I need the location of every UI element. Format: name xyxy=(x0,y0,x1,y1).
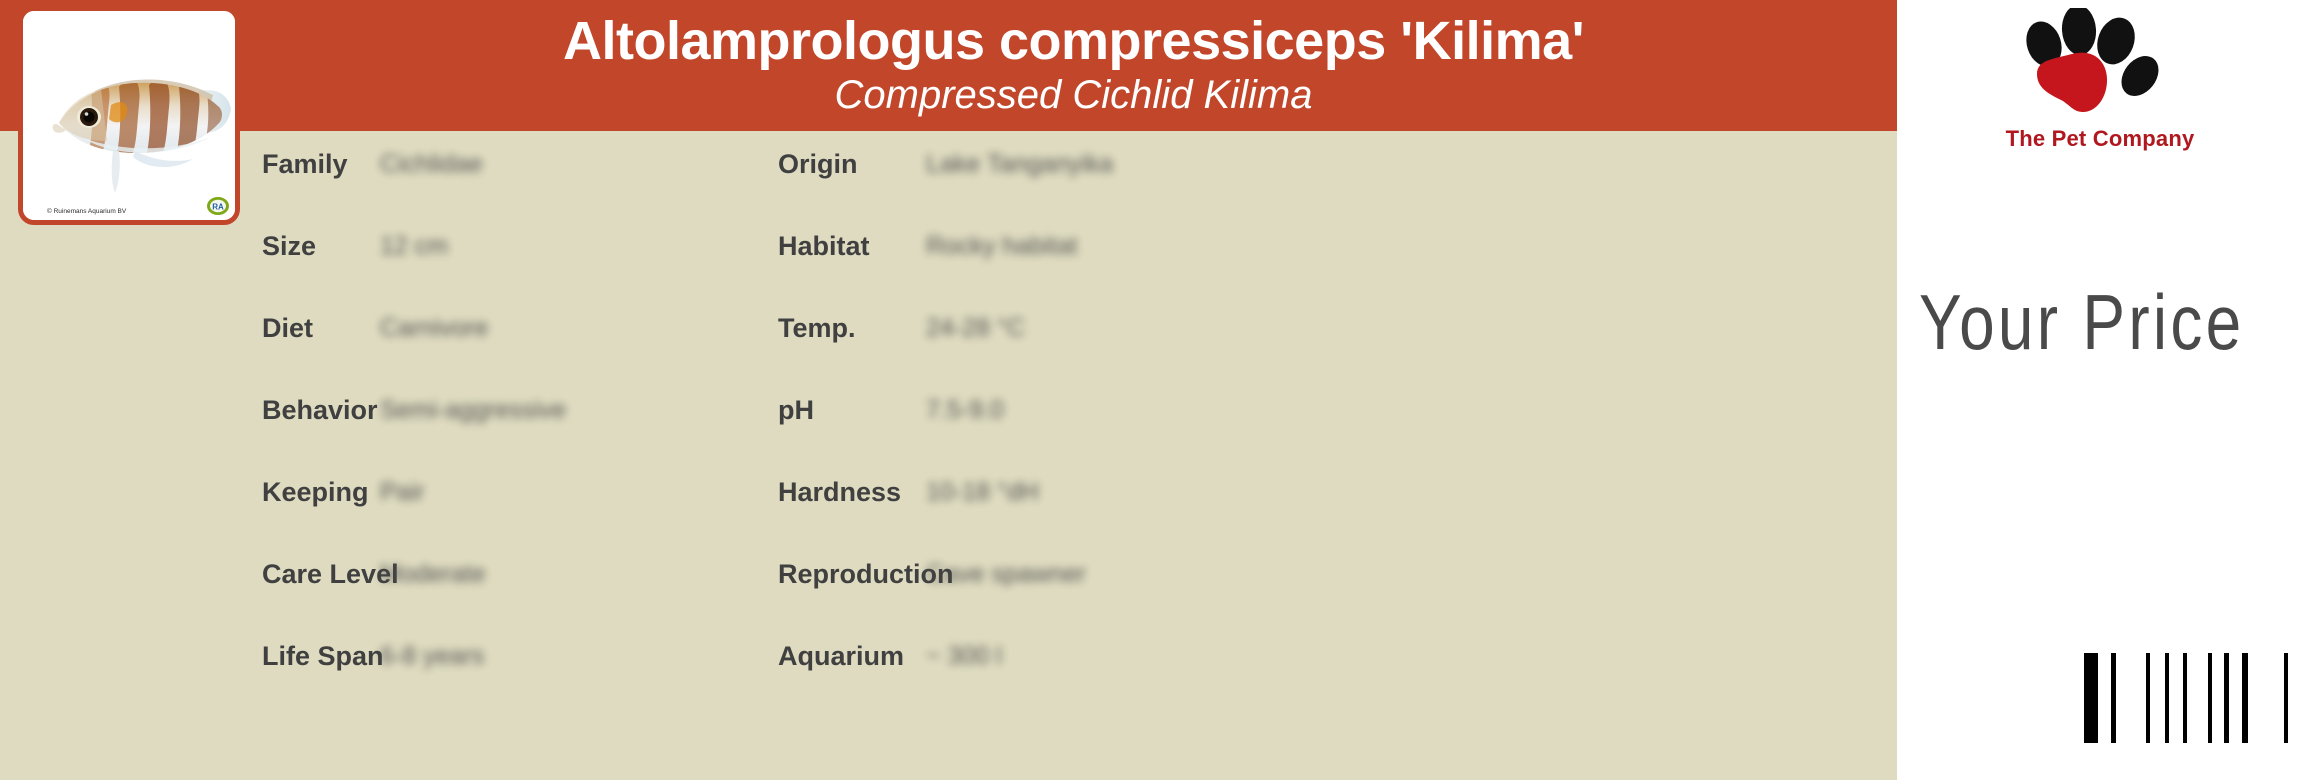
spec-label: Hardness xyxy=(778,459,926,506)
spec-row: Size 12 cm xyxy=(262,213,762,295)
brand-name: The Pet Company xyxy=(1897,126,2303,152)
barcode-bar xyxy=(2242,653,2248,743)
spec-label: Diet xyxy=(262,295,380,342)
spec-value: 12 cm xyxy=(380,213,448,259)
spec-row: Aquarium ~ 300 l xyxy=(778,623,1298,705)
barcode-bar xyxy=(2233,653,2238,743)
spec-label: Origin xyxy=(778,131,926,178)
spec-row: Family Cichlidae xyxy=(262,131,762,213)
spec-value: 7.5-9.0 xyxy=(926,377,1004,423)
spec-row: Origin Lake Tanganyika xyxy=(778,131,1298,213)
spec-table: Family Cichlidae Size 12 cm Diet Carnivo… xyxy=(0,131,1897,780)
spec-label: pH xyxy=(778,377,926,424)
spec-row: Reproduction Cave spawner xyxy=(778,541,1298,623)
barcode-bar xyxy=(2102,653,2107,743)
spec-value: Moderate xyxy=(380,541,486,587)
barcode-bar xyxy=(2154,653,2161,743)
spec-value: Cave spawner xyxy=(926,541,1086,587)
spec-label: Life Span xyxy=(262,623,380,670)
barcode-bar xyxy=(2252,653,2280,743)
title-banner-text: Altolamprologus compressiceps 'Kilima' C… xyxy=(250,0,1897,131)
barcode-bar xyxy=(2120,653,2142,743)
spec-value: 6-8 years xyxy=(380,623,484,669)
spec-row: Temp. 24-28 °C xyxy=(778,295,1298,377)
spec-label: Reproduction xyxy=(778,541,926,588)
spec-row: Diet Carnivore xyxy=(262,295,762,377)
spec-label: Keeping xyxy=(262,459,380,506)
common-name: Compressed Cichlid Kilima xyxy=(835,73,1313,118)
barcode-bar xyxy=(2216,653,2220,743)
spec-row: Behavior Semi-aggressive xyxy=(262,377,762,459)
spec-value: Lake Tanganyika xyxy=(926,131,1113,177)
title-banner: Altolamprologus compressiceps 'Kilima' C… xyxy=(0,0,1897,131)
spec-value: Rocky habitat xyxy=(926,213,1077,259)
barcode-bar xyxy=(2292,653,2302,743)
spec-value: Semi-aggressive xyxy=(380,377,566,423)
spec-label: Temp. xyxy=(778,295,926,342)
barcode-bar xyxy=(2191,653,2204,743)
spec-row: Care Level Moderate xyxy=(262,541,762,623)
price-heading: Your Price xyxy=(1919,283,2296,361)
paw-print-icon xyxy=(2015,8,2175,126)
barcode-bar xyxy=(2183,653,2187,743)
spec-value: 10-18 °dH xyxy=(926,459,1039,505)
spec-label: Habitat xyxy=(778,213,926,260)
barcode xyxy=(2084,653,2303,743)
spec-label: Size xyxy=(262,213,380,260)
spec-column-right: Origin Lake Tanganyika Habitat Rocky hab… xyxy=(778,131,1298,705)
barcode-bar xyxy=(2284,653,2288,743)
spec-label: Family xyxy=(262,131,380,178)
spec-row: Life Span 6-8 years xyxy=(262,623,762,705)
spec-label: Care Level xyxy=(262,541,380,588)
barcode-bar xyxy=(2084,653,2098,743)
barcode-bar xyxy=(2111,653,2116,743)
barcode-bar xyxy=(2146,653,2150,743)
spec-value: Pair xyxy=(380,459,424,505)
label-sheet: Altolamprologus compressiceps 'Kilima' C… xyxy=(0,0,2303,780)
spec-label: Behavior xyxy=(262,377,380,424)
spec-row: Hardness 10-18 °dH xyxy=(778,459,1298,541)
barcode-bar xyxy=(2208,653,2212,743)
spec-value: Carnivore xyxy=(380,295,488,341)
species-info-card: Altolamprologus compressiceps 'Kilima' C… xyxy=(0,0,1897,780)
spec-row: Keeping Pair xyxy=(262,459,762,541)
spec-column-left: Family Cichlidae Size 12 cm Diet Carnivo… xyxy=(262,131,762,705)
spec-row: pH 7.5-9.0 xyxy=(778,377,1298,459)
spec-value: Cichlidae xyxy=(380,131,483,177)
price-panel: The Pet Company Your Price xyxy=(1897,0,2303,780)
spec-value: 24-28 °C xyxy=(926,295,1025,341)
barcode-bar xyxy=(2165,653,2169,743)
scientific-name: Altolamprologus compressiceps 'Kilima' xyxy=(563,13,1584,70)
spec-row: Habitat Rocky habitat xyxy=(778,213,1298,295)
barcode-bar xyxy=(2224,653,2229,743)
spec-value: ~ 300 l xyxy=(926,623,1002,669)
spec-label: Aquarium xyxy=(778,623,926,670)
barcode-bar xyxy=(2173,653,2179,743)
brand-logo: The Pet Company xyxy=(1897,6,2303,176)
